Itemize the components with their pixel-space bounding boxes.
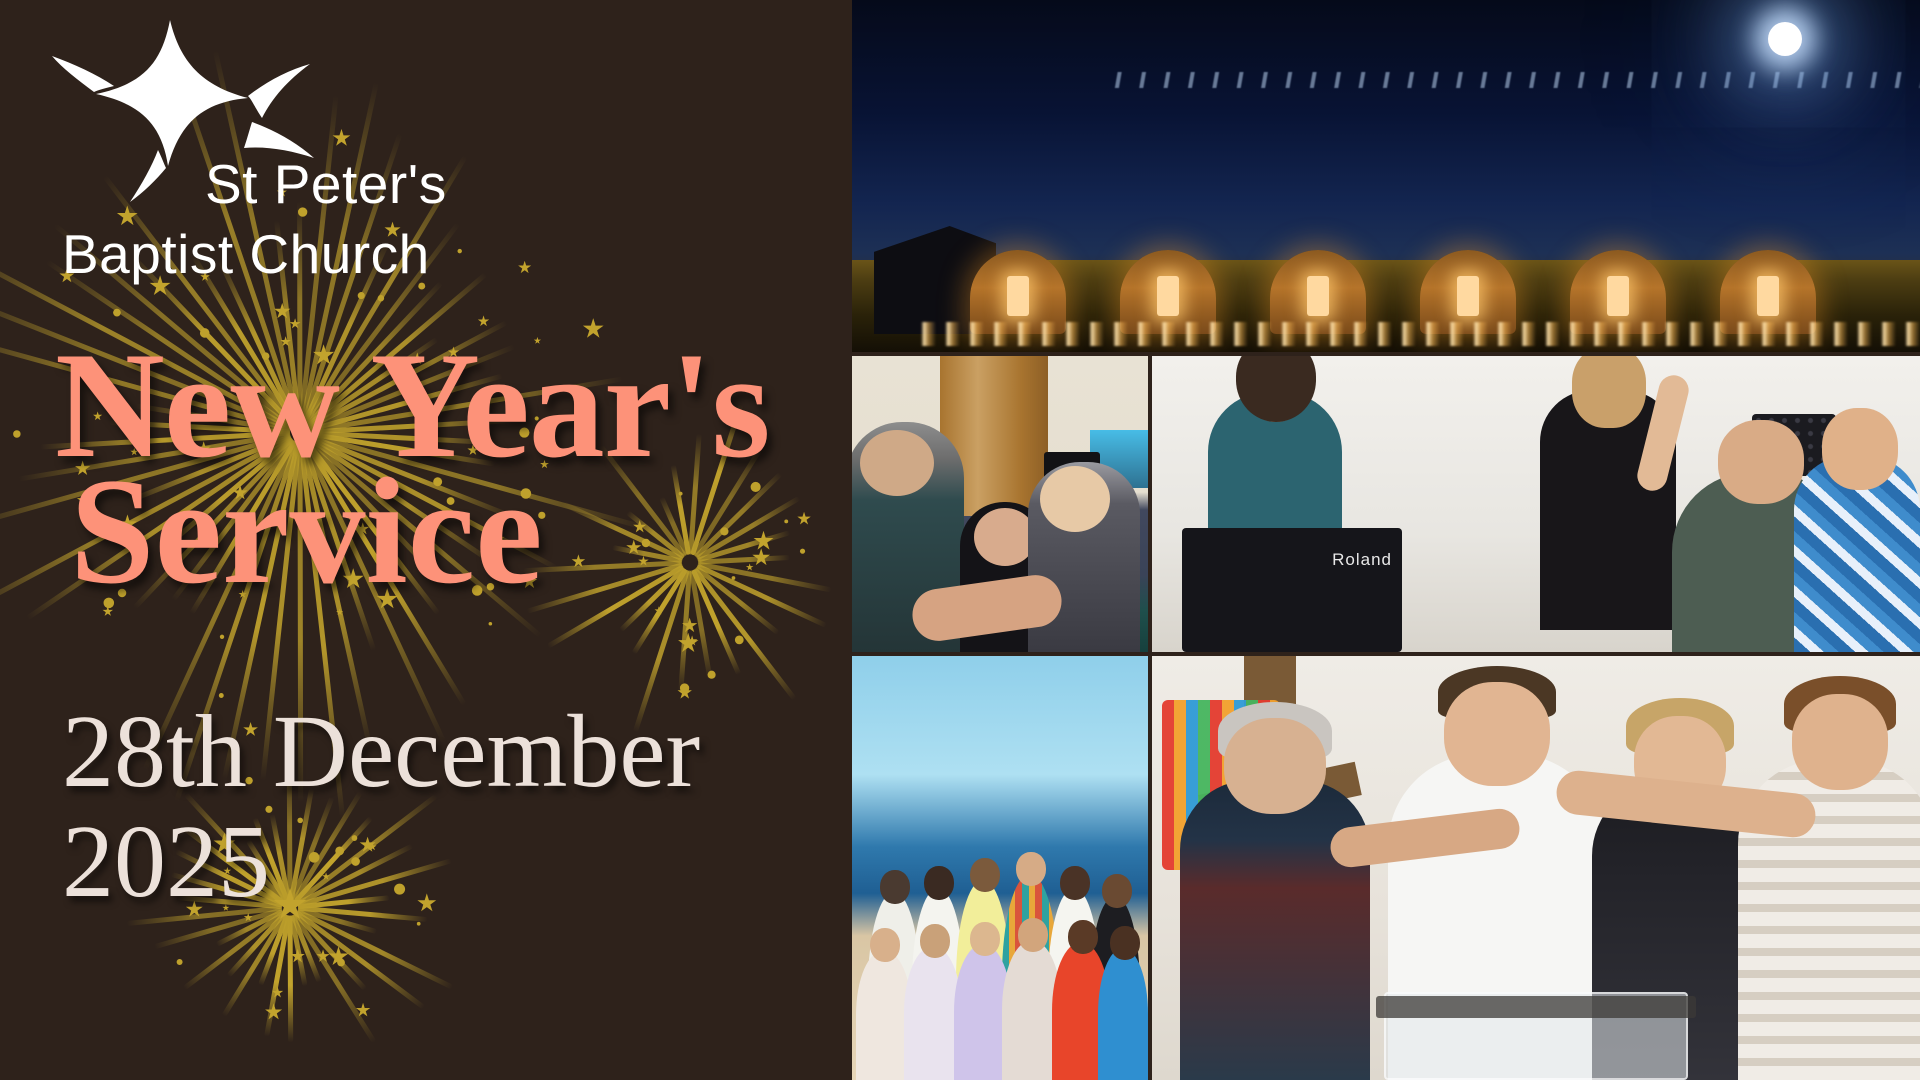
group-member-head <box>1110 926 1140 960</box>
firework-spark-dot <box>708 671 716 679</box>
poster-canvas: St Peter's Baptist Church New Year's Ser… <box>0 0 1920 1080</box>
festoon-lights <box>912 322 1920 346</box>
person-floral-top <box>1794 456 1920 652</box>
left-text-panel: St Peter's Baptist Church New Year's Ser… <box>0 0 852 1080</box>
firework-ray <box>294 912 367 991</box>
firework-ray <box>288 915 294 1042</box>
firework-ray <box>292 913 377 1044</box>
firework-spark-star <box>654 606 663 615</box>
firework-ray <box>222 913 288 1017</box>
photo-worship-band <box>1152 356 1920 652</box>
firework-spark-star <box>290 949 305 964</box>
firework-ray <box>296 909 453 990</box>
event-date-line-1: 28th December <box>62 700 852 804</box>
firework-spark-star <box>274 303 291 320</box>
event-date: 28th December 2025 <box>0 700 852 914</box>
photo-collage <box>852 0 1920 1080</box>
photo-night-camping-pods <box>852 0 1920 352</box>
group-member <box>1098 948 1148 1080</box>
firework-spark-dot <box>458 249 462 253</box>
firework-spark-star <box>328 946 349 967</box>
bird-flock <box>1108 72 1920 88</box>
group-member-head <box>1068 920 1098 954</box>
firework-spark-dot <box>113 309 121 317</box>
firework-spark-star <box>518 261 532 275</box>
moon-icon <box>1768 22 1802 56</box>
church-name-line-1: St Peter's <box>205 152 447 216</box>
firework-spark-star <box>687 635 698 646</box>
firework-ray <box>291 914 322 983</box>
firework-spark-dot <box>378 295 384 301</box>
firework-spark-dot <box>735 635 744 644</box>
firework-spark-star <box>356 1003 371 1018</box>
group-member-head <box>880 870 910 904</box>
firework-spark-dot <box>177 959 183 965</box>
firework-spark-dot <box>358 292 365 299</box>
firework-spark-dot <box>489 622 493 626</box>
firework-ray <box>289 915 307 986</box>
group-member-head <box>970 858 1000 892</box>
church-name-line-2: Baptist Church <box>62 222 430 286</box>
firework-spark-star <box>316 949 330 963</box>
firework-spark-star <box>272 987 284 999</box>
group-member-head <box>1018 918 1048 952</box>
group-member-head <box>924 866 954 900</box>
firework-ray <box>264 915 291 1037</box>
firework-spark-dot <box>417 922 421 926</box>
firework-spark-dot <box>337 959 345 967</box>
roland-keyboard <box>1182 528 1402 652</box>
firework-ray <box>182 910 285 990</box>
photo-prayer-ministry <box>1152 656 1920 1080</box>
firework-spark-star <box>678 633 699 654</box>
firework-ray <box>226 912 286 978</box>
group-member-head <box>1016 852 1046 886</box>
firework-spark-star <box>682 618 698 634</box>
photo-baptism-celebration <box>852 356 1148 652</box>
group-member-head <box>970 922 1000 956</box>
firework-spark-dot <box>220 635 224 639</box>
group-member-head <box>1102 874 1132 908</box>
group-member-head <box>1060 866 1090 900</box>
event-date-line-2: 2025 <box>62 810 852 914</box>
firework-ray <box>295 910 426 1009</box>
photo-beach-group <box>852 656 1148 1080</box>
firework-spark-dot <box>680 683 689 692</box>
person-praying-left <box>1180 780 1370 1080</box>
group-member-head <box>920 924 950 958</box>
group-member-head <box>870 928 900 962</box>
lectern-top-bar <box>1376 996 1696 1018</box>
firework-spark-star <box>332 129 350 147</box>
firework-ray <box>258 914 289 986</box>
firework-spark-star <box>265 1003 283 1021</box>
event-title: New Year's Service <box>0 336 852 602</box>
